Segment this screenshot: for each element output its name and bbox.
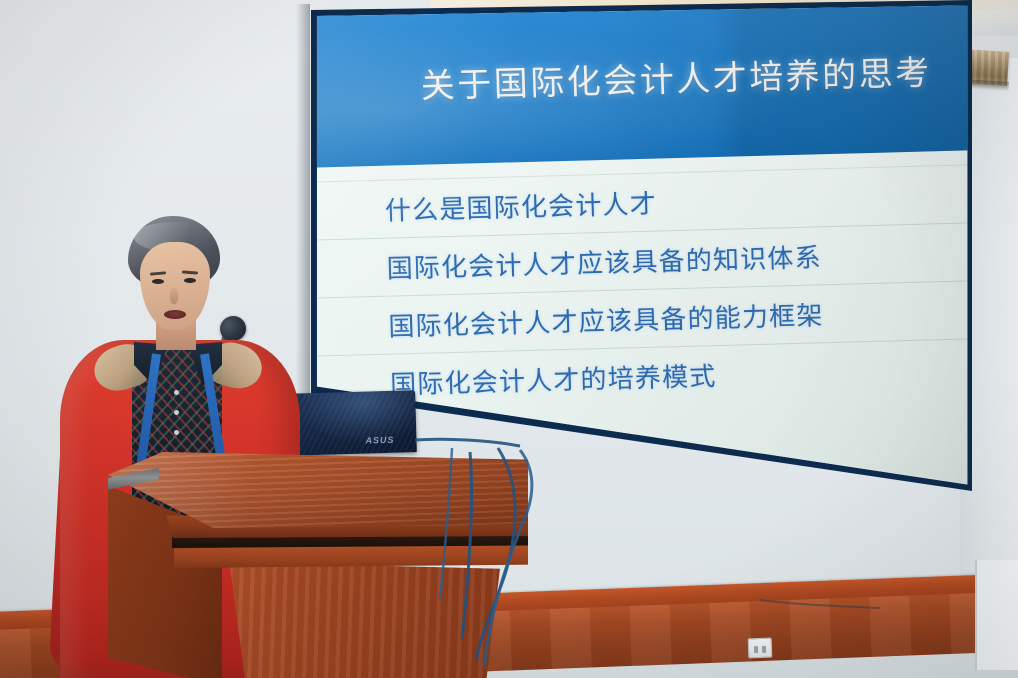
wall-corner-edge [975,560,977,670]
slide-bullet-1-text: 什么是国际化会计人才 [384,183,657,227]
slide-title: 关于国际化会计人才培养的思考 [307,0,972,168]
wall-corner-panel [975,560,1018,670]
wooden-podium [108,452,528,678]
podium-column [218,562,500,678]
speaker-eye-left [152,279,164,284]
laptop-brand-logo: ASUS [365,435,394,446]
laptop-lid [282,390,417,456]
slide-bullet-4-text: 国际化会计人才的培养模式 [389,356,716,402]
slide-header-band: 关于国际化会计人才培养的思考 [307,0,972,168]
speaker-eye-right [184,278,196,283]
speaker-nose [170,288,178,304]
slide-bullet-2-text: 国际化会计人才应该具备的知识体系 [386,237,822,285]
speaker-mouth [164,310,186,319]
shirt-button-1 [174,390,179,395]
shirt-button-3 [174,430,179,435]
laptop: ASUS [282,390,417,456]
power-outlet [748,638,773,659]
presentation-photo-scene: 关于国际化会计人才培养的思考 什么是国际化会计人才 国际化会计人才应该具备的知识… [0,0,1018,678]
slide-bullet-3-text: 国际化会计人才应该具备的能力框架 [388,295,824,343]
shirt-button-2 [174,410,179,415]
